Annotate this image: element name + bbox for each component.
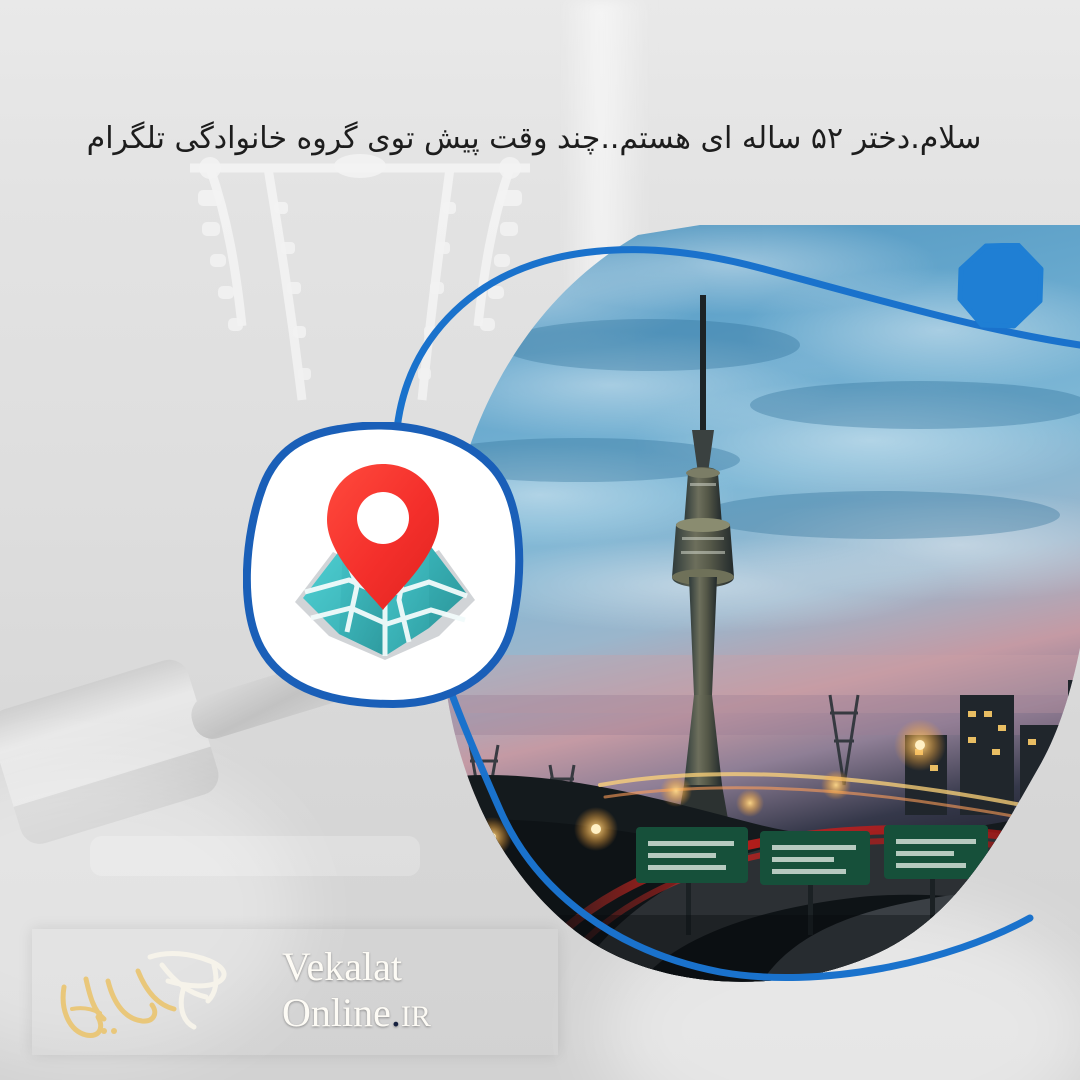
logo-dot: . <box>391 990 401 1035</box>
logo-line-1: Vekalat <box>282 944 402 990</box>
headline-label: سلام.دختر ۵۲ ساله ای هستم..چند وقت پیش ت… <box>87 108 982 170</box>
map-location-badge[interactable] <box>243 422 525 708</box>
folded-map-icon <box>289 460 479 666</box>
site-logo[interactable]: Vekalat Online.IR <box>32 929 558 1055</box>
poster-canvas: سلام.دختر ۵۲ ساله ای هستم..چند وقت پیش ت… <box>0 0 1080 1080</box>
logo-online-word: Online <box>282 990 391 1035</box>
logo-calligraphy-panel <box>32 929 252 1055</box>
headline-text: سلام.دختر ۵۲ ساله ای هستم..چند وقت پیش ت… <box>0 108 1080 170</box>
logo-wordmark-panel: Vekalat Online.IR <box>252 929 558 1055</box>
vekalat-online-calligraphy-icon <box>42 935 242 1047</box>
blue-heptagon <box>956 243 1044 329</box>
logo-tld: IR <box>401 1000 431 1033</box>
logo-line-2: Online.IR <box>282 990 431 1040</box>
